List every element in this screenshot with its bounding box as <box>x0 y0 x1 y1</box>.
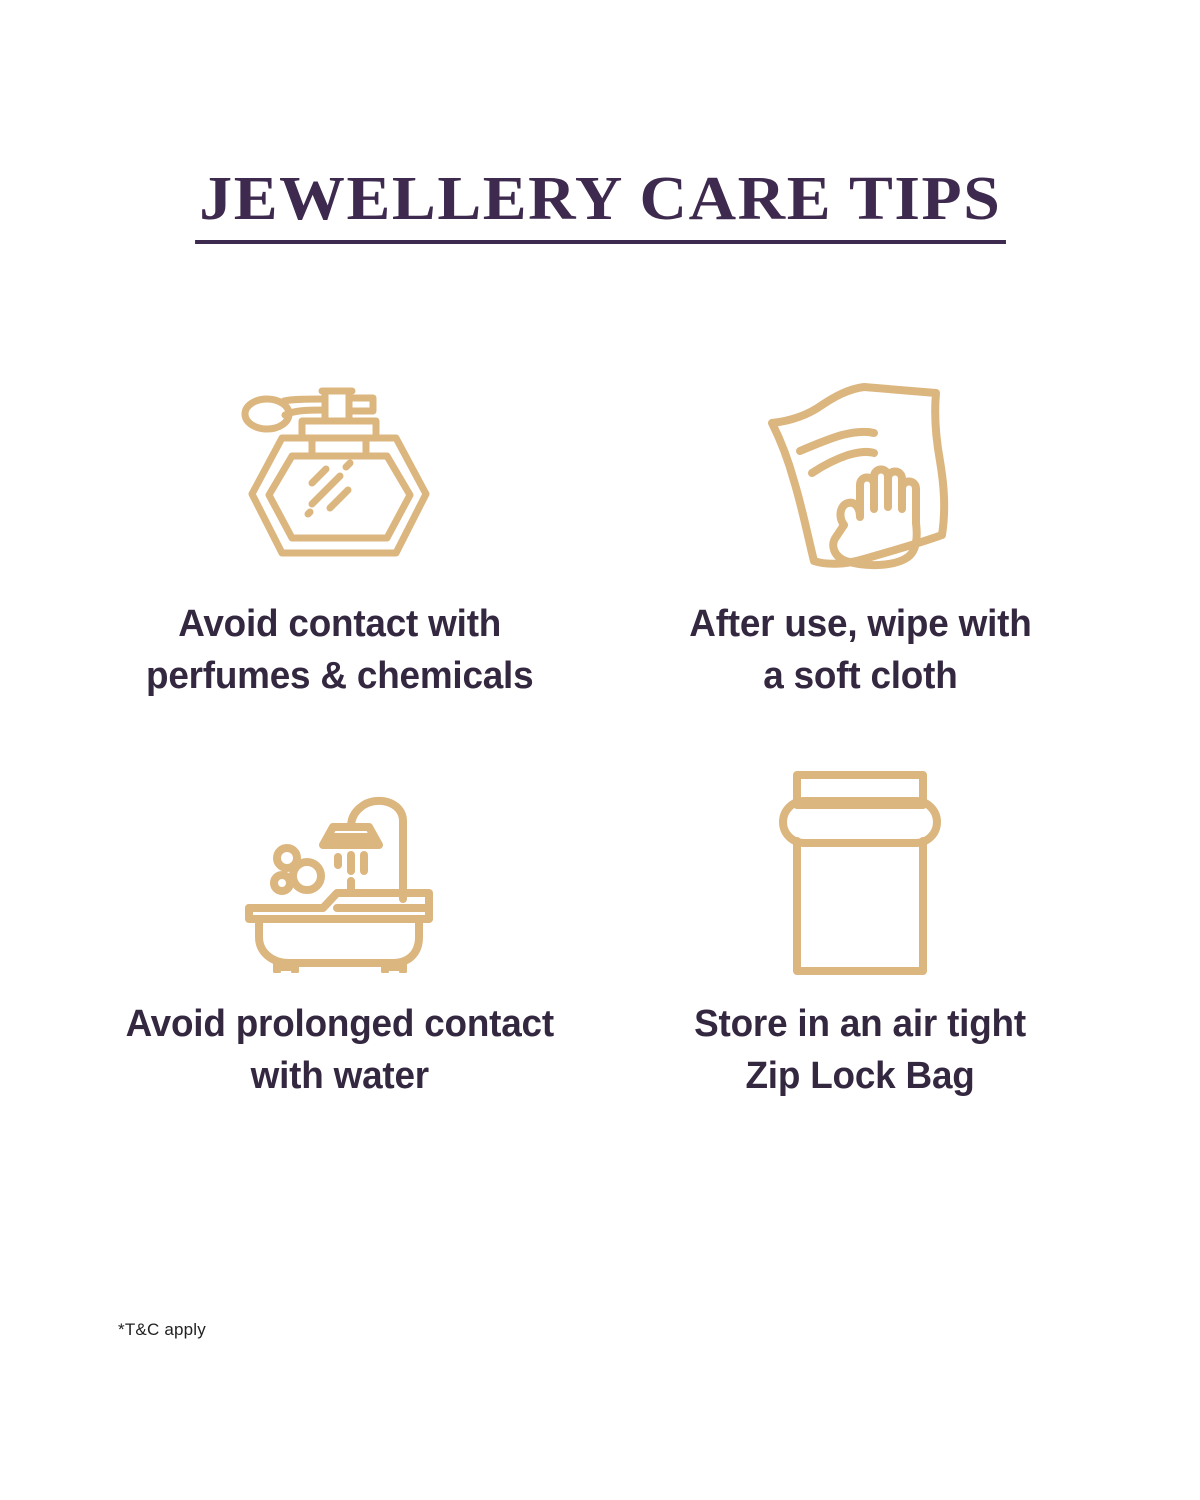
tip-label-water-line1: Avoid prolonged contact <box>126 1003 554 1045</box>
bathtub-shower-icon <box>237 770 443 980</box>
tip-label-cloth-line2: a soft cloth <box>763 655 957 697</box>
cloth-wipe-hand-icon <box>760 370 960 580</box>
tip-card-ziplock: Store in an air tight Zip Lock Bag <box>600 770 1120 1110</box>
tip-label-water-line2: with water <box>251 1055 429 1097</box>
jewellery-care-tips-page: JEWELLERY CARE TIPS <box>0 0 1200 1500</box>
tip-label-cloth-line1: After use, wipe with <box>689 603 1031 645</box>
terms-and-conditions-note: *T&C apply <box>118 1320 206 1340</box>
tip-label-ziplock-line1: Store in an air tight <box>694 1003 1026 1045</box>
tip-label-water: Avoid prolonged contact with water <box>126 998 554 1103</box>
zip-lock-bag-icon <box>777 770 943 980</box>
perfume-bottle-icon <box>240 370 440 580</box>
tip-label-ziplock: Store in an air tight Zip Lock Bag <box>694 998 1026 1103</box>
tip-card-water: Avoid prolonged contact with water <box>80 770 600 1110</box>
tips-grid: Avoid contact with perfumes & chemicals <box>80 370 1120 1110</box>
tip-card-cloth: After use, wipe with a soft cloth <box>600 370 1120 710</box>
page-title: JEWELLERY CARE TIPS <box>195 168 1006 244</box>
page-title-container: JEWELLERY CARE TIPS <box>0 168 1200 244</box>
tip-label-cloth: After use, wipe with a soft cloth <box>689 598 1031 703</box>
tip-label-perfume-line2: perfumes & chemicals <box>146 655 533 697</box>
tip-label-perfume-line1: Avoid contact with <box>179 603 502 645</box>
tip-label-ziplock-line2: Zip Lock Bag <box>745 1055 974 1097</box>
tip-card-perfume: Avoid contact with perfumes & chemicals <box>80 370 600 710</box>
tip-label-perfume: Avoid contact with perfumes & chemicals <box>146 598 533 703</box>
